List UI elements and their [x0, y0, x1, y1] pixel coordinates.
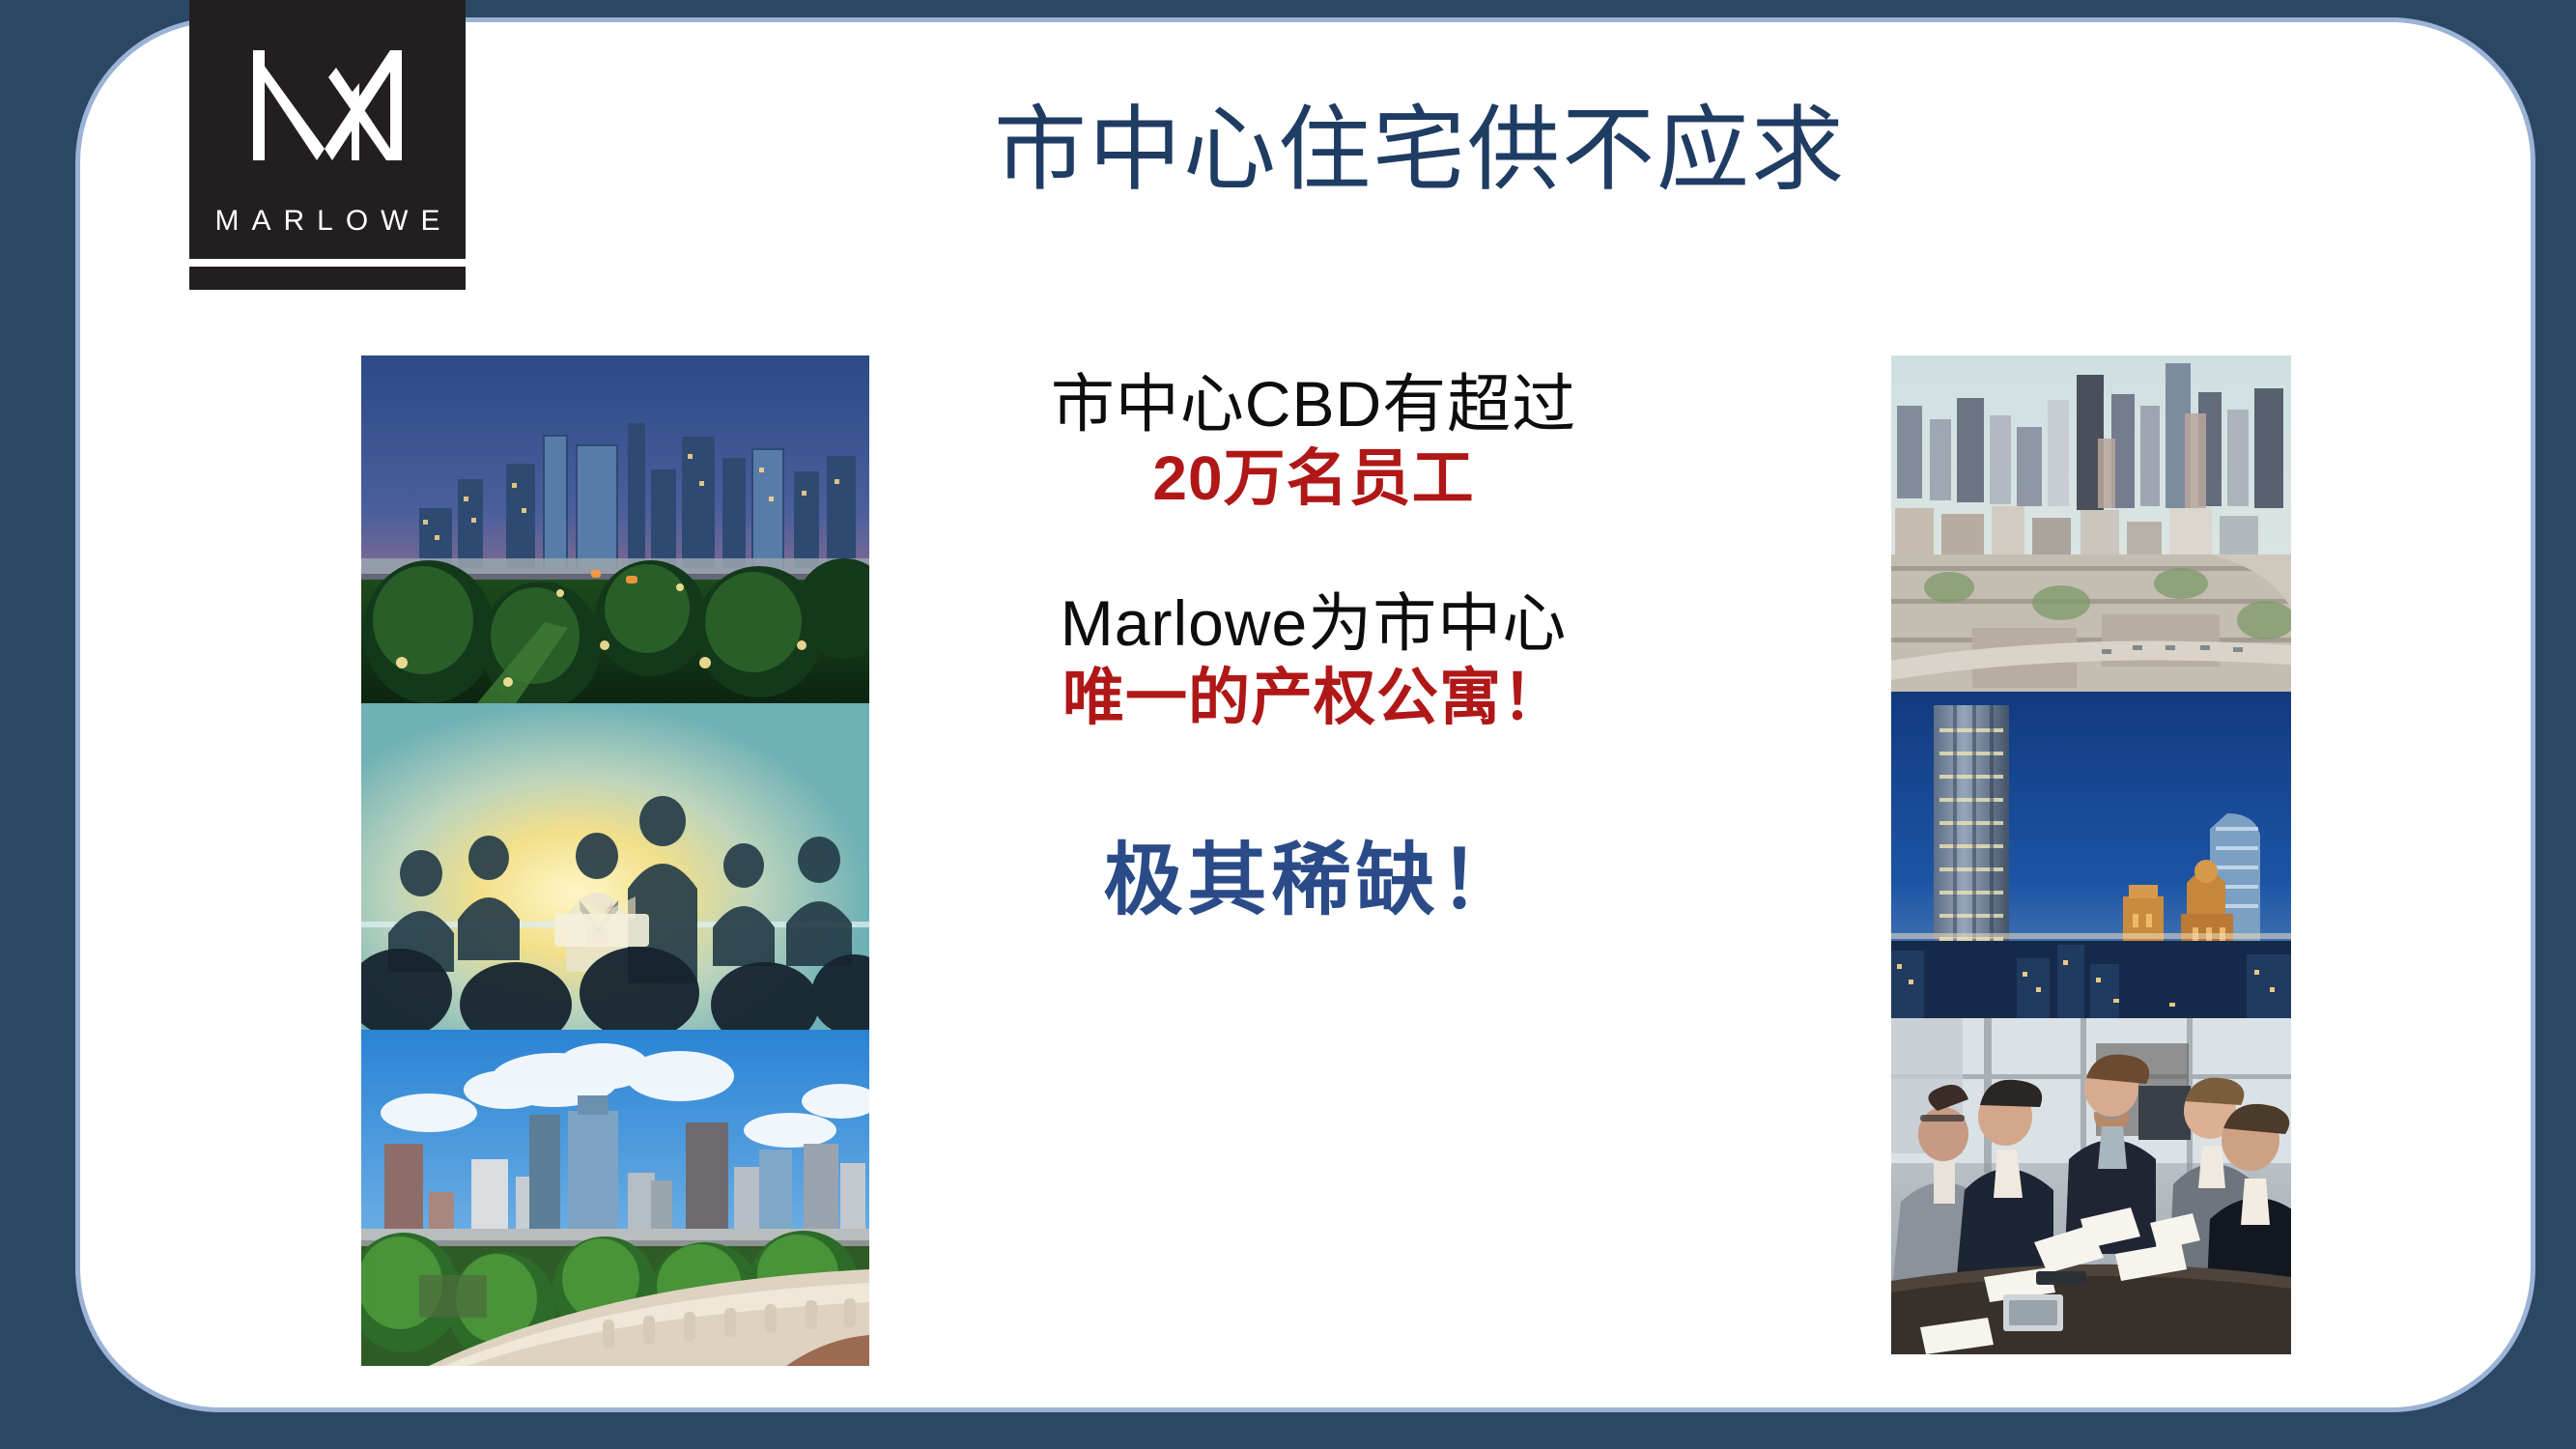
slide-canvas: MARLOWE 市中心住宅供不应求 市中心CBD有超过 20万名员工 Marlo… — [0, 0, 2576, 1449]
copy-line-5: 极其稀缺！ — [898, 836, 1729, 926]
copy-line-1: 市中心CBD有超过 — [898, 367, 1729, 442]
photo-houston-aerial-downtown — [1891, 355, 2291, 692]
left-photo-column — [361, 355, 869, 1366]
body-copy: 市中心CBD有超过 20万名员工 Marlowe为市中心 唯一的产权公寓！ 极其… — [898, 367, 1729, 926]
marlowe-logo: MARLOWE — [189, 0, 466, 259]
logo-bottom-bar — [189, 267, 466, 290]
marlowe-wordmark: MARLOWE — [189, 205, 466, 238]
page-title: 市中心住宅供不应求 — [637, 100, 2202, 201]
copy-line-2: 20万名员工 — [898, 442, 1729, 516]
copy-gap-1 — [898, 515, 1729, 586]
copy-line-4: 唯一的产权公寓！ — [898, 662, 1729, 735]
copy-line-3: Marlowe为市中心 — [898, 586, 1729, 662]
photo-downtown-tower-twilight — [1891, 692, 2291, 1018]
photo-business-meeting-sunset-silhouette — [361, 703, 869, 1030]
marlowe-m-monogram-icon — [189, 33, 466, 178]
copy-gap-2 — [898, 735, 1729, 836]
photo-houston-skyline-dusk-park — [361, 355, 869, 703]
right-photo-column — [1891, 355, 2291, 1354]
photo-houston-skyline-daylight-bridge — [361, 1030, 869, 1366]
photo-office-conference-meeting — [1891, 1018, 2291, 1354]
